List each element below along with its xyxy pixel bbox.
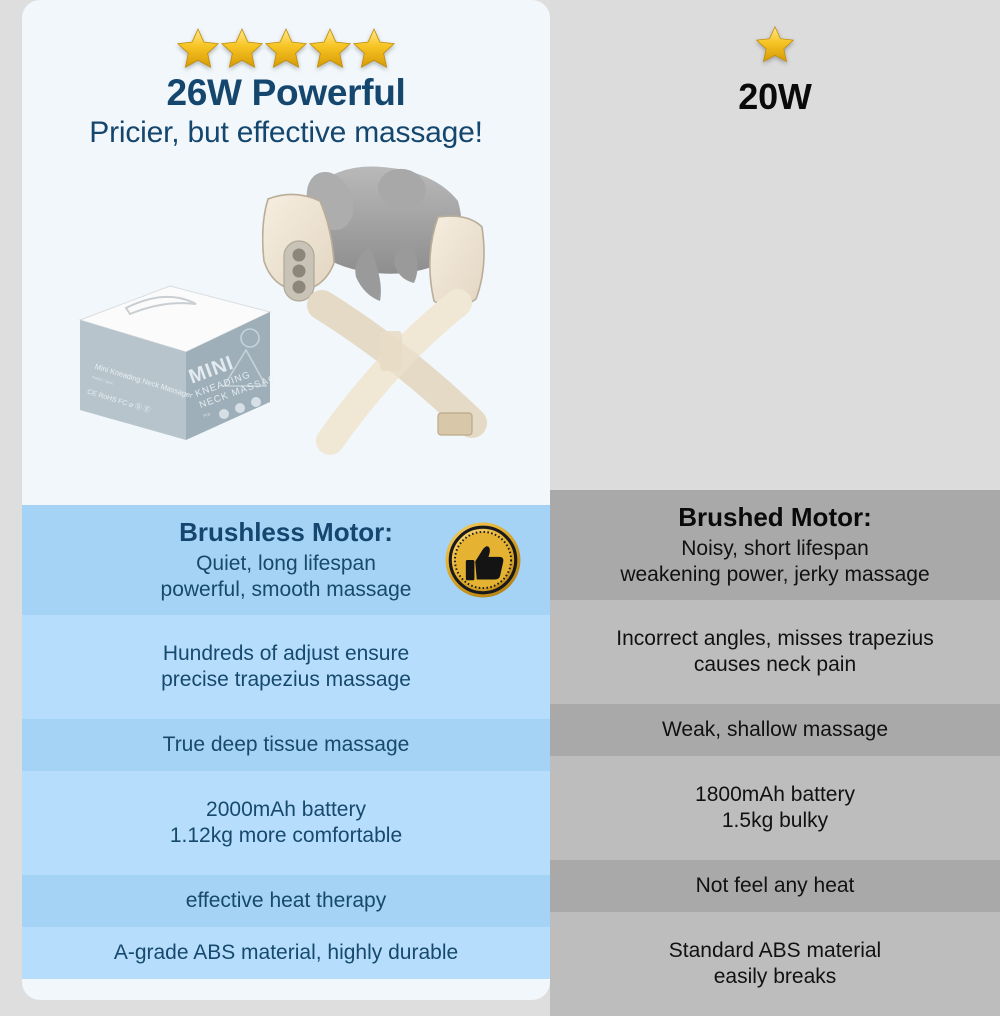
right-heading-block: 20W: [550, 76, 1000, 118]
right-feature-rows: Brushed Motor: Noisy, short lifespan wea…: [550, 490, 1000, 1016]
left-row-1-line-0: Hundreds of adjust ensure: [36, 641, 536, 667]
left-hero: 26W Powerful Pricier, but effective mass…: [22, 0, 550, 505]
thumbs-up-seal-icon: [444, 521, 522, 599]
right-row-3-line-1: 1.5kg bulky: [564, 808, 986, 834]
right-row-2-line-0: Weak, shallow massage: [564, 717, 986, 743]
left-heading-block: 26W Powerful Pricier, but effective mass…: [22, 72, 550, 151]
comparison-infographic: 26W Powerful Pricier, but effective mass…: [0, 0, 1000, 1000]
table-row: Brushless Motor: Quiet, long lifespan po…: [22, 505, 550, 615]
left-subtitle: Pricier, but effective massage!: [22, 115, 550, 151]
right-row-0-line-1: weakening power, jerky massage: [564, 562, 986, 588]
right-row-4-line-0: Not feel any heat: [564, 873, 986, 899]
table-row: 2000mAh battery 1.12kg more comfortable: [22, 771, 550, 875]
table-row: 1800mAh battery 1.5kg bulky: [550, 756, 1000, 860]
star-icon: [263, 26, 309, 72]
star-icon: [175, 26, 221, 72]
left-row-2-line-0: True deep tissue massage: [36, 732, 536, 758]
left-row-5-line-0: A-grade ABS material, highly durable: [36, 940, 536, 966]
table-row: A-grade ABS material, highly durable: [22, 927, 550, 979]
table-row: True deep tissue massage: [22, 719, 550, 771]
right-title: 20W: [550, 76, 1000, 118]
left-product-carton: MINI KNEADING NECK MASSAGER Pro Mini Kne…: [74, 268, 274, 448]
right-row-1-line-1: causes neck pain: [564, 652, 986, 678]
right-star-rating: [550, 24, 1000, 70]
left-star-rating: [22, 26, 550, 76]
left-row-3-line-0: 2000mAh battery: [36, 797, 536, 823]
left-row-3-line-1: 1.12kg more comfortable: [36, 823, 536, 849]
right-row-0-line-0: Noisy, short lifespan: [564, 536, 986, 562]
star-icon: [307, 26, 353, 72]
right-row-1-line-0: Incorrect angles, misses trapezius: [564, 626, 986, 652]
right-product-panel: 20W: [550, 0, 1000, 1000]
right-hero: 20W: [550, 0, 1000, 490]
star-icon: [754, 24, 796, 66]
table-row: effective heat therapy: [22, 875, 550, 927]
table-row: Weak, shallow massage: [550, 704, 1000, 756]
table-row: Incorrect angles, misses trapezius cause…: [550, 600, 1000, 704]
left-row-4-line-0: effective heat therapy: [36, 888, 536, 914]
left-product-image: [262, 155, 550, 505]
table-row: Hundreds of adjust ensure precise trapez…: [22, 615, 550, 719]
right-row-5-line-1: easily breaks: [564, 964, 986, 990]
right-row-0-heading: Brushed Motor:: [564, 502, 986, 533]
right-row-3-line-0: 1800mAh battery: [564, 782, 986, 808]
left-feature-rows: Brushless Motor: Quiet, long lifespan po…: [22, 505, 550, 979]
right-row-5-line-0: Standard ABS material: [564, 938, 986, 964]
left-title: 26W Powerful: [22, 72, 550, 113]
table-row: Not feel any heat: [550, 860, 1000, 912]
star-icon: [351, 26, 397, 72]
table-row: Standard ABS material easily breaks: [550, 912, 1000, 1016]
left-row-1-line-1: precise trapezius massage: [36, 667, 536, 693]
left-product-panel: 26W Powerful Pricier, but effective mass…: [22, 0, 550, 1000]
star-icon: [219, 26, 265, 72]
table-row: Brushed Motor: Noisy, short lifespan wea…: [550, 490, 1000, 600]
